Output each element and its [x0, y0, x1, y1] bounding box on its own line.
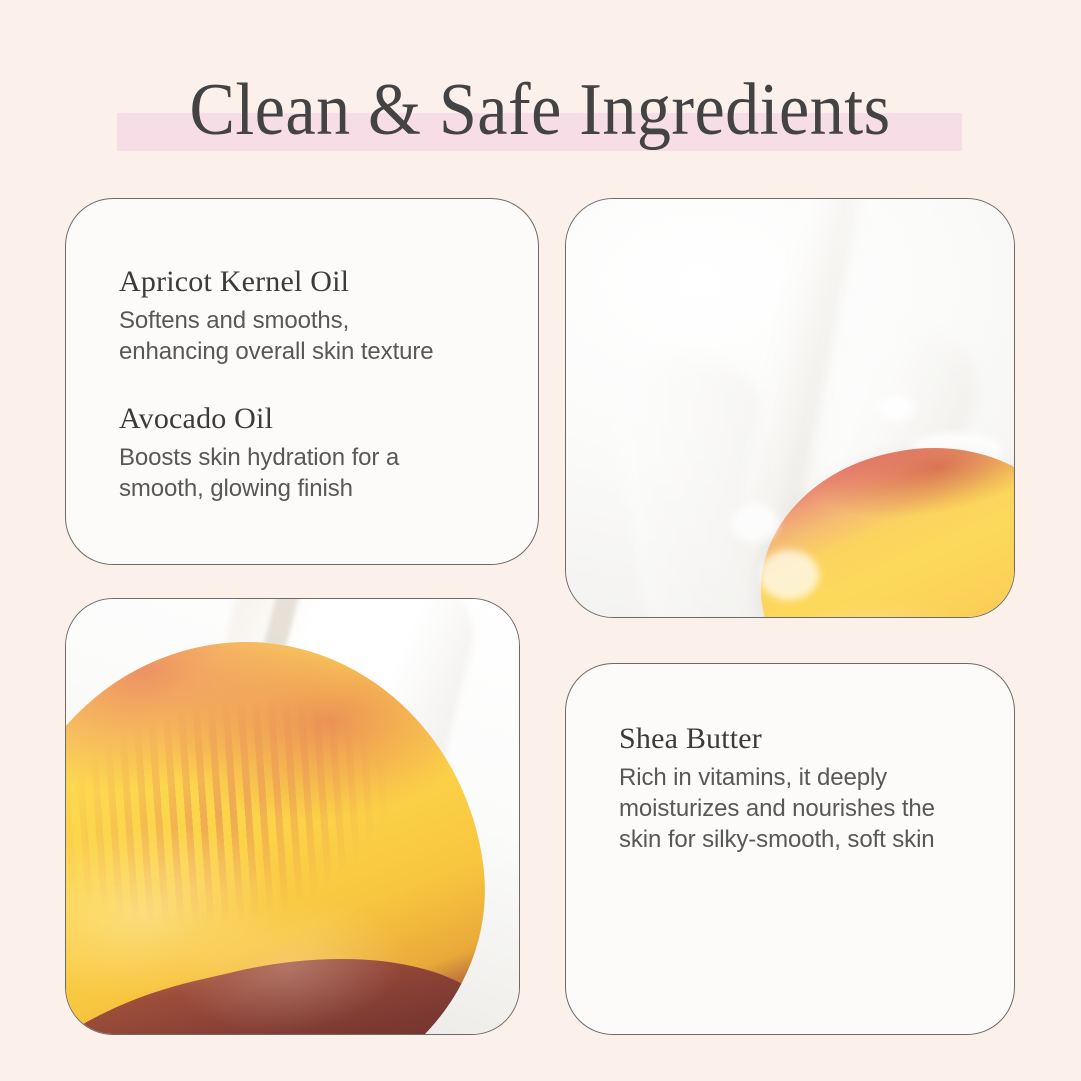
- ingredient-entry-avocado-oil: Avocado Oil Boosts skin hydration for a …: [119, 402, 399, 504]
- peach-skin: [65, 915, 510, 1035]
- photo-cream-with-peach-slice: [565, 198, 1015, 618]
- ingredient-description: Softens and smooths, enhancing overall s…: [119, 305, 434, 367]
- ingredient-entry-shea-butter: Shea Butter Rich in vitamins, it deeply …: [619, 722, 935, 855]
- cream-blob: [732, 504, 778, 542]
- poster-canvas: Clean & Safe Ingredients Apricot Kernel …: [0, 0, 1081, 1081]
- ingredient-name: Avocado Oil: [119, 402, 399, 436]
- cream-blob: [759, 550, 819, 600]
- peach-flesh-shape: [65, 614, 510, 1035]
- ingredients-card: Apricot Kernel Oil Softens and smooths, …: [65, 198, 539, 565]
- ingredient-entry-apricot-kernel-oil: Apricot Kernel Oil Softens and smooths, …: [119, 265, 434, 367]
- ingredient-name: Apricot Kernel Oil: [119, 265, 434, 299]
- cream-blob: [880, 395, 914, 421]
- page-title-block: Clean & Safe Ingredients: [0, 60, 1081, 160]
- peach-torn-edge: [65, 622, 473, 1004]
- shea-butter-card: Shea Butter Rich in vitamins, it deeply …: [565, 663, 1015, 1035]
- photo-peach-slice-closeup: [65, 598, 520, 1035]
- ingredient-description: Rich in vitamins, it deeply moisturizes …: [619, 762, 935, 856]
- page-title: Clean & Safe Ingredients: [190, 73, 891, 147]
- ingredient-description: Boosts skin hydration for a smooth, glow…: [119, 442, 399, 504]
- ingredient-name: Shea Butter: [619, 722, 935, 756]
